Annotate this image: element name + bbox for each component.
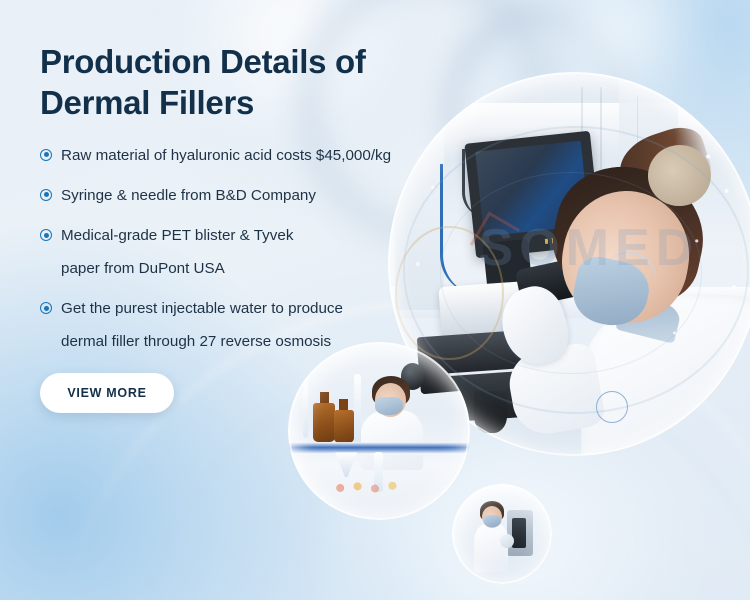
radio-dot-icon — [40, 149, 52, 161]
list-item-text: Syringe & needle from B&D Company — [61, 187, 316, 204]
page-title-line-1: Production Details of — [40, 42, 460, 83]
face-mask-icon — [375, 397, 402, 415]
equipment-lab-scene — [452, 484, 552, 584]
list-item: Medical-grade PET blister & Tyvek paper … — [40, 224, 460, 280]
radio-dot-icon — [40, 229, 52, 241]
face-mask-icon — [484, 515, 501, 527]
glass-tube-icon — [303, 378, 308, 439]
glassware-lab-scene — [288, 342, 470, 520]
list-item-text-continued: dermal filler through 27 reverse osmosis — [61, 330, 460, 353]
page-title-line-2: Dermal Fillers — [40, 83, 460, 124]
list-item: Get the purest injectable water to produ… — [40, 297, 460, 353]
amber-bottle-icon — [313, 403, 335, 442]
lab-coat-icon — [474, 524, 508, 572]
secondary-photo-circle[interactable] — [288, 342, 470, 520]
list-item-text: Get the purest injectable water to produ… — [61, 300, 343, 317]
radio-dot-icon — [40, 189, 52, 201]
text-content: Production Details of Dermal Fillers Raw… — [40, 42, 460, 353]
list-item-text: Medical-grade PET blister & Tyvek — [61, 227, 293, 244]
page-title: Production Details of Dermal Fillers — [40, 42, 460, 124]
feature-list: Raw material of hyaluronic acid costs $4… — [40, 144, 460, 354]
radio-dot-icon — [40, 302, 52, 314]
list-item-text-continued: paper from DuPont USA — [61, 257, 460, 280]
list-item-text: Raw material of hyaluronic acid costs $4… — [61, 147, 391, 164]
light-beam-icon — [452, 491, 469, 518]
promo-banner: SOMED — [0, 0, 750, 600]
microscope-objective-icon — [474, 391, 507, 433]
view-more-button[interactable]: VIEW MORE — [40, 373, 174, 413]
glove-icon — [500, 534, 514, 548]
amber-bottle-icon — [334, 410, 354, 444]
list-item: Syringe & needle from B&D Company — [40, 184, 460, 207]
sample-tubes-icon — [328, 474, 415, 502]
equipment-panel-icon — [512, 518, 526, 548]
lab-coat-icon — [361, 410, 423, 471]
tertiary-photo-circle[interactable] — [452, 484, 552, 584]
list-item: Raw material of hyaluronic acid costs $4… — [40, 144, 460, 167]
glass-column-icon — [354, 374, 361, 445]
